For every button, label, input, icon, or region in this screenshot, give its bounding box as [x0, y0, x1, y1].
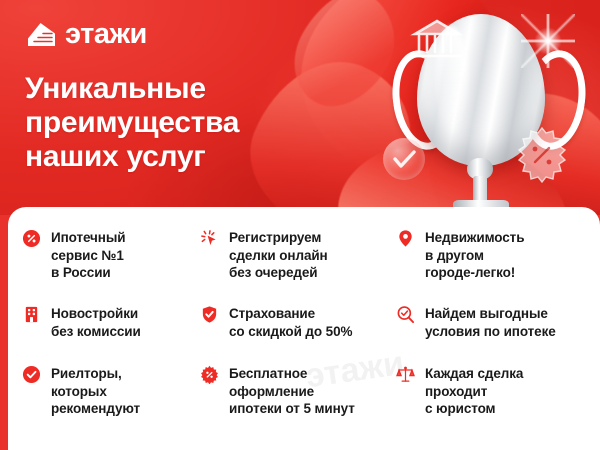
feature-label: Регистрируем сделки онлайн без очередей: [229, 229, 328, 282]
search-check-icon: [396, 305, 416, 327]
shield-check-icon: [200, 305, 220, 327]
feature-item: Недвижимость в другом городе-легко!: [396, 229, 600, 305]
check-coin-icon: [383, 138, 425, 180]
feature-item: Риелторы, которых рекомендуют: [22, 365, 200, 441]
feature-item: Каждая сделка проходит с юристом: [396, 365, 600, 441]
brand-logo[interactable]: этажи: [26, 20, 147, 49]
feature-item: Регистрируем сделки онлайн без очередей: [200, 229, 396, 305]
check-circle-icon: [22, 365, 42, 387]
feature-item: Бесплатное оформление ипотеки от 5 минут: [200, 365, 396, 441]
bank-building-icon: [409, 16, 465, 62]
page-title: Уникальные преимущества наших услуг: [25, 72, 239, 174]
features-grid: Ипотечный сервис №1 в России: [8, 207, 600, 450]
feature-label: Новостройки без комиссии: [51, 305, 141, 340]
feature-item: Найдем выгодные условия по ипотеке: [396, 305, 600, 365]
apartment-block-icon: [22, 305, 42, 327]
hero-section: этажи Уникальные преимущества наших услу…: [0, 0, 600, 215]
feature-label: Недвижимость в другом городе-легко!: [425, 229, 524, 282]
percent-circle-icon: [22, 229, 42, 251]
map-pin-icon: [396, 229, 416, 251]
building-stairs-icon: [26, 22, 56, 48]
percent-rosette-icon: [513, 126, 571, 184]
feature-label: Каждая сделка проходит с юристом: [425, 365, 523, 418]
feature-label: Ипотечный сервис №1 в России: [51, 229, 125, 282]
feature-item: Новостройки без комиссии: [22, 305, 200, 365]
scales-justice-icon: [396, 365, 416, 387]
feature-item: Страхование со скидкой до 50%: [200, 305, 396, 365]
sparkle-icon: [521, 14, 575, 68]
promo-banner: этажи Уникальные преимущества наших услу…: [0, 0, 600, 450]
feature-label: Риелторы, которых рекомендуют: [51, 365, 140, 418]
feature-label: Бесплатное оформление ипотеки от 5 минут: [229, 365, 355, 418]
feature-label: Найдем выгодные условия по ипотеке: [425, 305, 556, 340]
click-cursor-icon: [200, 229, 220, 251]
feature-item: Ипотечный сервис №1 в России: [22, 229, 200, 305]
feature-label: Страхование со скидкой до 50%: [229, 305, 352, 340]
percent-rosette-icon: [200, 365, 220, 387]
features-panel: этажи Ипотечный сервис №1 в России: [8, 207, 600, 450]
brand-name: этажи: [65, 20, 147, 49]
3d-trophy-illustration: [395, 8, 580, 208]
